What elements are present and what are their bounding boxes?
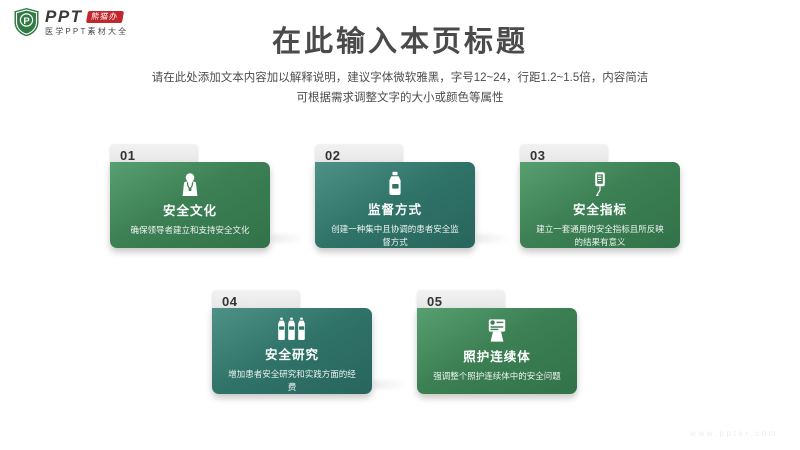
card-02[interactable]: 02 监督方式 创建一种集中且协调的患者安全监督方式 <box>315 144 475 248</box>
card-02-title: 监督方式 <box>368 199 422 218</box>
connector-2-3 <box>477 234 511 243</box>
card-01[interactable]: 01 安全文化 确保领导者建立和支持安全文化 <box>110 144 270 248</box>
card-01-title: 安全文化 <box>163 200 217 219</box>
medicine-bottle-icon <box>385 171 405 196</box>
subtitle-line-2: 可根据需求调整文字的大小或颜色等属性 <box>100 88 700 108</box>
iv-drip-icon <box>591 171 609 196</box>
three-bottles-icon <box>277 317 307 341</box>
card-05-number: 05 <box>427 294 442 309</box>
page-subtitle: 请在此处添加文本内容加以解释说明，建议字体微软雅黑，字号12~24，行距1.2~… <box>100 68 700 108</box>
footer-watermark: www.ppter.com <box>690 429 778 438</box>
card-04-desc: 增加患者安全研究和实践方面的经费 <box>227 368 357 394</box>
card-03-body[interactable]: 安全指标 建立一套通用的安全指标且所反映的结果有意义 <box>520 162 680 248</box>
doctor-icon <box>178 171 202 197</box>
card-03-number: 03 <box>530 148 545 163</box>
card-05-desc: 强调整个照护连续体中的安全问题 <box>432 370 562 383</box>
microscope-icon <box>486 317 508 343</box>
card-04-number: 04 <box>222 294 237 309</box>
card-01-body[interactable]: 安全文化 确保领导者建立和支持安全文化 <box>110 162 270 248</box>
card-01-number: 01 <box>120 148 135 163</box>
connector-4-5 <box>373 380 407 389</box>
connector-1-2 <box>272 234 306 243</box>
card-01-desc: 确保领导者建立和支持安全文化 <box>125 224 255 237</box>
card-04-body[interactable]: 安全研究 增加患者安全研究和实践方面的经费 <box>212 308 372 394</box>
card-03[interactable]: 03 安全指标 建立一套通用的安全指标且所反映的结果有意义 <box>520 144 680 248</box>
card-05-body[interactable]: 照护连续体 强调整个照护连续体中的安全问题 <box>417 308 577 394</box>
card-04-title: 安全研究 <box>265 344 319 363</box>
subtitle-line-1: 请在此处添加文本内容加以解释说明，建议字体微软雅黑，字号12~24，行距1.2~… <box>100 68 700 88</box>
card-03-desc: 建立一套通用的安全指标且所反映的结果有意义 <box>535 223 665 248</box>
card-02-number: 02 <box>325 148 340 163</box>
card-05[interactable]: 05 照护连续体 强调整个照护连续体中的安全问题 <box>417 290 577 394</box>
page-title: 在此输入本页标题 <box>0 18 800 60</box>
card-02-body[interactable]: 监督方式 创建一种集中且协调的患者安全监督方式 <box>315 162 475 248</box>
card-03-title: 安全指标 <box>573 199 627 218</box>
card-05-title: 照护连续体 <box>463 346 531 365</box>
card-04[interactable]: 04 <box>212 290 372 394</box>
card-02-desc: 创建一种集中且协调的患者安全监督方式 <box>330 223 460 248</box>
